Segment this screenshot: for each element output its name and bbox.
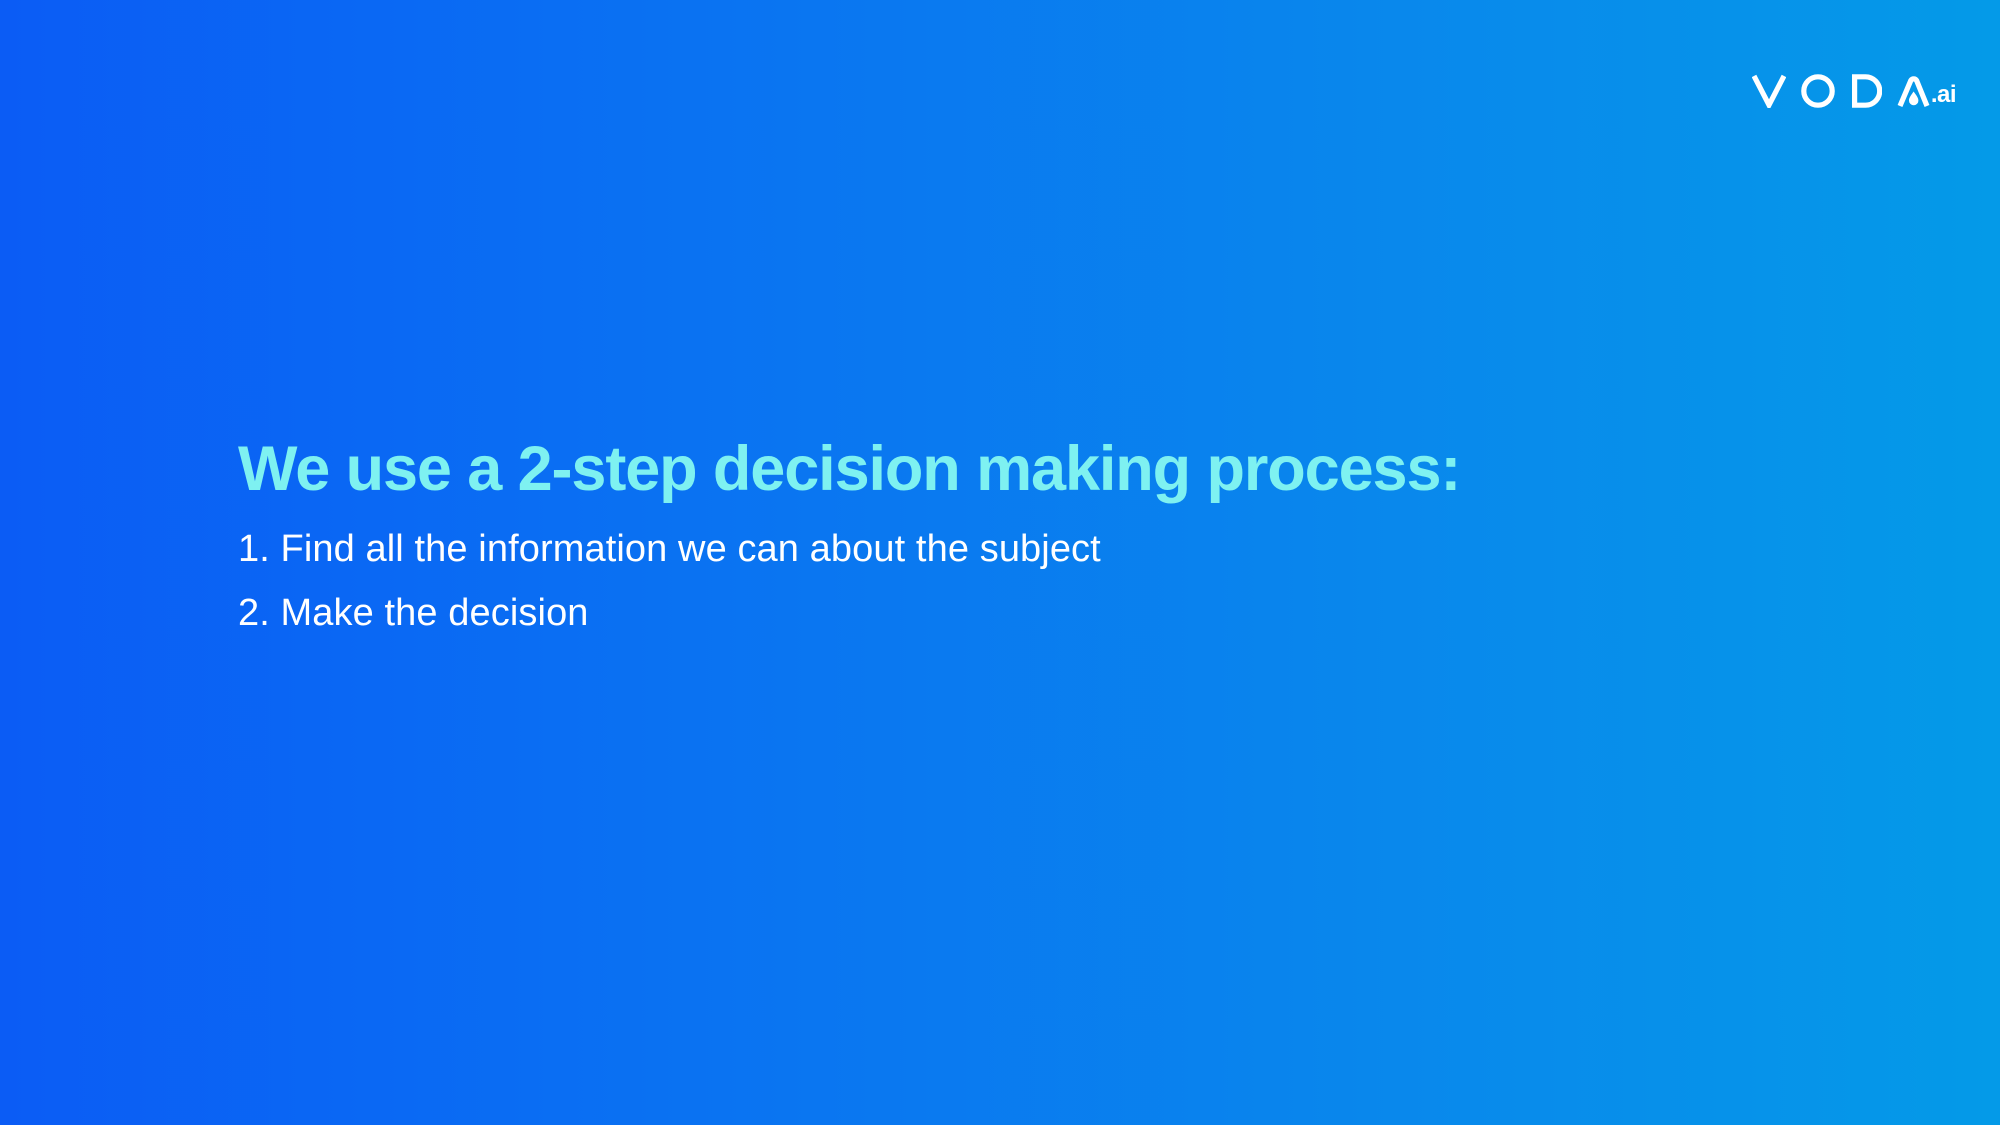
logo-letter-o-icon	[1801, 74, 1835, 108]
list-item: 1. Find all the information we can about…	[238, 518, 1858, 582]
step-list: 1. Find all the information we can about…	[238, 518, 1858, 646]
logo-suffix: .ai	[1931, 83, 1956, 107]
slide-headline: We use a 2-step decision making process:	[238, 432, 1858, 506]
logo-letter-d-icon	[1850, 74, 1882, 108]
logo-letter-a-droplet-icon	[1897, 74, 1930, 108]
voda-ai-logo: .ai	[1752, 62, 1956, 108]
list-item: 2. Make the decision	[238, 582, 1858, 646]
presentation-slide: .ai We use a 2-step decision making proc…	[0, 0, 2000, 1125]
slide-content: We use a 2-step decision making process:…	[238, 432, 1858, 646]
logo-wordmark	[1752, 74, 1930, 108]
logo-letter-v-icon	[1752, 74, 1786, 108]
